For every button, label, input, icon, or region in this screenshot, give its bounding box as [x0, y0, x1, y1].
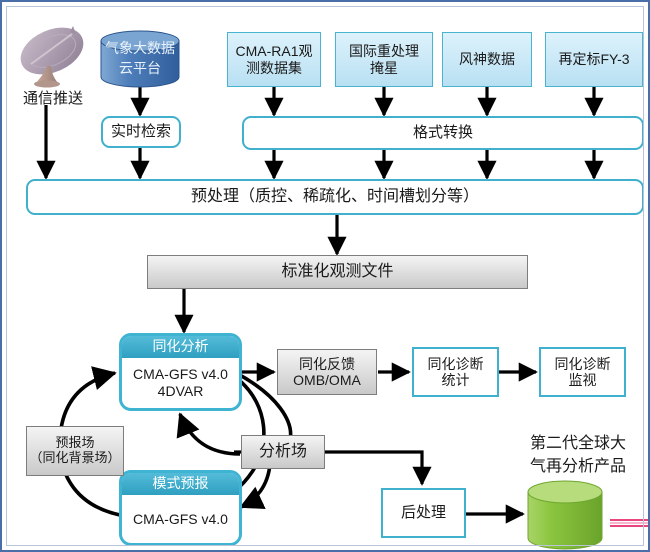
source-label-line1: 风神数据: [459, 51, 515, 67]
model-forecast-card[interactable]: 模式预报 CMA-GFS v4.0: [119, 470, 242, 546]
model-forecast-card-header: 模式预报: [122, 473, 239, 495]
green-database-cylinder-icon: [524, 480, 606, 552]
source-label-line2: 测数据集: [246, 60, 302, 76]
assimilation-card-header: 同化分析: [122, 336, 239, 358]
diag-monitor-line2: 监视: [569, 372, 597, 388]
source-label-line2: 掩星: [370, 60, 398, 76]
source-label-line1: 再定标FY-3: [558, 51, 629, 67]
source-label-line1: 国际重处理: [349, 43, 419, 59]
satellite-dish-icon: [14, 20, 92, 88]
source-box-fengshen[interactable]: 风神数据: [442, 32, 532, 87]
reanalysis-product-label-line1: 第二代全球大: [508, 434, 648, 453]
forecast-field-line2: （同化背景场）: [29, 451, 120, 466]
cloud-platform-label-line1: 气象大数据: [97, 38, 183, 58]
comm-push-label: 通信推送: [8, 90, 98, 108]
diagnostic-monitoring-box[interactable]: 同化诊断 监视: [539, 347, 626, 397]
source-box-cma-ra1[interactable]: CMA-RA1观 测数据集: [227, 32, 321, 87]
source-box-intl-reprocessed[interactable]: 国际重处理 掩星: [335, 32, 433, 87]
assimilation-card-body: CMA-GFS v4.0 4DVAR: [122, 358, 239, 408]
analysis-field-box[interactable]: 分析场: [241, 435, 325, 469]
assimilation-analysis-card[interactable]: 同化分析 CMA-GFS v4.0 4DVAR: [119, 333, 242, 411]
source-label-line1: CMA-RA1观: [235, 43, 312, 59]
diag-stats-line1: 同化诊断: [428, 356, 484, 372]
format-conversion-box[interactable]: 格式转换: [242, 116, 644, 150]
realtime-retrieval-box[interactable]: 实时检索: [101, 116, 181, 148]
assimilation-feedback-box[interactable]: 同化反馈 OMB/OMA: [277, 349, 377, 395]
source-box-recalibrated-fy3[interactable]: 再定标FY-3: [545, 32, 643, 87]
diag-stats-line2: 统计: [442, 372, 470, 388]
forecast-field-box[interactable]: 预报场 （同化背景场）: [26, 426, 124, 476]
assimilation-body-line2: 4DVAR: [133, 383, 228, 400]
standard-observation-file-box[interactable]: 标准化观测文件: [147, 255, 528, 289]
preprocess-box[interactable]: 预处理（质控、稀疏化、时间槽划分等）: [26, 179, 644, 215]
diag-monitor-line1: 同化诊断: [555, 356, 611, 372]
post-process-box[interactable]: 后处理: [381, 488, 466, 538]
cloud-platform-label-line2: 云平台: [97, 58, 183, 78]
forecast-field-line1: 预报场: [55, 436, 94, 451]
diagnostic-statistics-box[interactable]: 同化诊断 统计: [412, 347, 499, 397]
assimilation-body-line1: CMA-GFS v4.0: [133, 366, 228, 383]
feedback-line1: 同化反馈: [299, 356, 355, 372]
model-forecast-card-body: CMA-GFS v4.0: [122, 495, 239, 543]
reanalysis-product-label-line2: 气再分析产品: [508, 457, 648, 476]
feedback-line2: OMB/OMA: [293, 372, 361, 388]
flowchart-diagram: 通信推送 气象大数据 云平台 CMA-RA1观 测数据集 国际重处理 掩星 风神…: [0, 0, 650, 552]
